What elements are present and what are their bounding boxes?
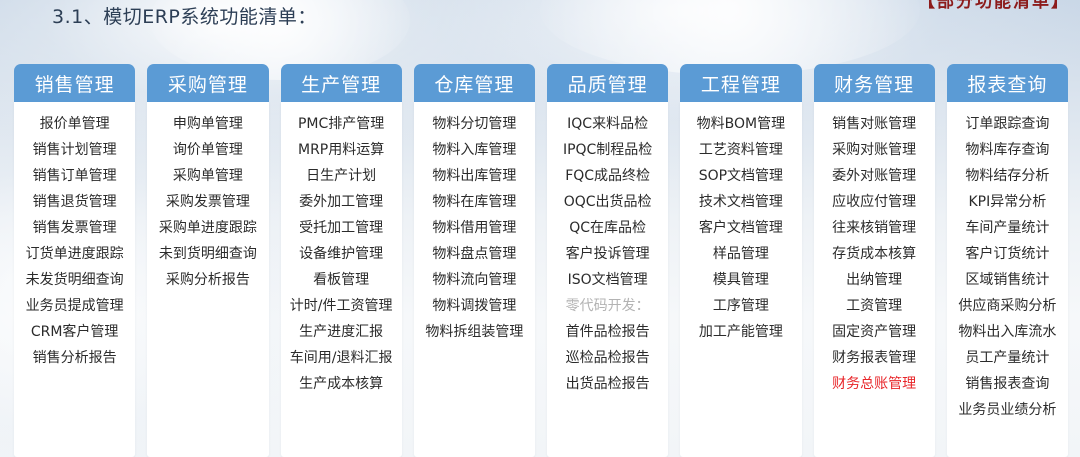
page-title: 3.1、模切ERP系统功能清单：: [52, 2, 317, 29]
list-item[interactable]: 往来核销管理: [832, 215, 916, 241]
list-item[interactable]: 业务员业绩分析: [958, 397, 1056, 423]
list-item[interactable]: 工艺资料管理: [699, 137, 783, 163]
list-item[interactable]: 询价单管理: [173, 137, 243, 163]
column-body: 报价单管理销售计划管理销售订单管理销售退货管理销售发票管理订货单进度跟踪未发货明…: [14, 102, 135, 457]
column-body: 物料BOM管理工艺资料管理SOP文档管理技术文档管理客户文档管理样品管理模具管理…: [680, 102, 801, 457]
list-item[interactable]: 车间用/退料汇报: [290, 345, 393, 371]
list-item[interactable]: 设备维护管理: [299, 241, 383, 267]
corner-note: 【部分功能清单】: [918, 0, 1070, 12]
column-header[interactable]: 报表查询: [947, 64, 1068, 102]
list-item[interactable]: 首件品检报告: [566, 319, 650, 345]
list-item[interactable]: IQC来料品检: [567, 111, 648, 137]
list-item[interactable]: 应收应付管理: [832, 189, 916, 215]
list-item[interactable]: 受托加工管理: [299, 215, 383, 241]
slide-page: 3.1、模切ERP系统功能清单： 【部分功能清单】 销售管理报价单管理销售计划管…: [0, 0, 1080, 457]
list-item[interactable]: IPQC制程品检: [563, 137, 652, 163]
module-column: 品质管理IQC来料品检IPQC制程品检FQC成品终检OQC出货品检QC在库品检客…: [547, 64, 668, 457]
list-item[interactable]: 物料库存查询: [965, 137, 1049, 163]
list-item[interactable]: SOP文档管理: [699, 163, 783, 189]
list-item[interactable]: 样品管理: [713, 241, 769, 267]
list-item[interactable]: 订单跟踪查询: [965, 111, 1049, 137]
list-item[interactable]: 区域销售统计: [965, 267, 1049, 293]
list-item[interactable]: 业务员提成管理: [26, 293, 124, 319]
column-body: 销售对账管理采购对账管理委外对账管理应收应付管理往来核销管理存货成本核算出纳管理…: [814, 102, 935, 457]
list-item[interactable]: 出纳管理: [846, 267, 902, 293]
list-item[interactable]: 客户文档管理: [699, 215, 783, 241]
list-item[interactable]: 报价单管理: [40, 111, 110, 137]
list-item[interactable]: 委外对账管理: [832, 163, 916, 189]
list-item[interactable]: 销售报表查询: [965, 371, 1049, 397]
list-item[interactable]: 未到货明细查询: [159, 241, 257, 267]
list-item[interactable]: 委外加工管理: [299, 189, 383, 215]
list-item[interactable]: 申购单管理: [173, 111, 243, 137]
column-body: 订单跟踪查询物料库存查询物料结存分析KPI异常分析车间产量统计客户订货统计区域销…: [947, 102, 1068, 457]
module-column: 工程管理物料BOM管理工艺资料管理SOP文档管理技术文档管理客户文档管理样品管理…: [680, 64, 801, 457]
list-item[interactable]: 存货成本核算: [832, 241, 916, 267]
column-body: IQC来料品检IPQC制程品检FQC成品终检OQC出货品检QC在库品检客户投诉管…: [547, 102, 668, 457]
list-item[interactable]: 供应商采购分析: [958, 293, 1056, 319]
column-header[interactable]: 生产管理: [281, 64, 402, 102]
list-item[interactable]: 日生产计划: [306, 163, 376, 189]
column-header[interactable]: 采购管理: [147, 64, 268, 102]
list-item[interactable]: 销售对账管理: [832, 111, 916, 137]
list-item[interactable]: 采购单进度跟踪: [159, 215, 257, 241]
list-item[interactable]: 客户订货统计: [965, 241, 1049, 267]
module-column: 销售管理报价单管理销售计划管理销售订单管理销售退货管理销售发票管理订货单进度跟踪…: [14, 64, 135, 457]
list-item[interactable]: 固定资产管理: [832, 319, 916, 345]
list-item[interactable]: 物料出入库流水: [958, 319, 1056, 345]
column-header[interactable]: 品质管理: [547, 64, 668, 102]
list-item[interactable]: 生产成本核算: [299, 371, 383, 397]
list-item[interactable]: 工资管理: [846, 293, 902, 319]
list-item[interactable]: 工序管理: [713, 293, 769, 319]
list-item[interactable]: 采购分析报告: [166, 267, 250, 293]
list-item[interactable]: CRM客户管理: [31, 319, 119, 345]
list-item[interactable]: PMC排产管理: [298, 111, 384, 137]
list-item[interactable]: 采购单管理: [173, 163, 243, 189]
column-body: PMC排产管理MRP用料运算日生产计划委外加工管理受托加工管理设备维护管理看板管…: [281, 102, 402, 457]
list-item[interactable]: 加工产能管理: [699, 319, 783, 345]
list-item[interactable]: 销售退货管理: [33, 189, 117, 215]
list-item[interactable]: 物料入库管理: [432, 137, 516, 163]
list-item[interactable]: 生产进度汇报: [299, 319, 383, 345]
list-item[interactable]: 物料借用管理: [432, 215, 516, 241]
module-column: 生产管理PMC排产管理MRP用料运算日生产计划委外加工管理受托加工管理设备维护管…: [281, 64, 402, 457]
list-item[interactable]: 订货单进度跟踪: [26, 241, 124, 267]
column-header[interactable]: 工程管理: [680, 64, 801, 102]
list-item[interactable]: ISO文档管理: [568, 267, 648, 293]
list-item[interactable]: MRP用料运算: [298, 137, 384, 163]
list-item[interactable]: KPI异常分析: [968, 189, 1046, 215]
list-item[interactable]: 物料分切管理: [432, 111, 516, 137]
list-item[interactable]: 客户投诉管理: [566, 241, 650, 267]
list-item[interactable]: 技术文档管理: [699, 189, 783, 215]
module-column: 仓库管理物料分切管理物料入库管理物料出库管理物料在库管理物料借用管理物料盘点管理…: [414, 64, 535, 457]
module-board: 销售管理报价单管理销售计划管理销售订单管理销售退货管理销售发票管理订货单进度跟踪…: [14, 64, 1068, 457]
list-item[interactable]: 模具管理: [713, 267, 769, 293]
module-column: 采购管理申购单管理询价单管理采购单管理采购发票管理采购单进度跟踪未到货明细查询采…: [147, 64, 268, 457]
list-item[interactable]: QC在库品检: [569, 215, 646, 241]
module-column: 报表查询订单跟踪查询物料库存查询物料结存分析KPI异常分析车间产量统计客户订货统…: [947, 64, 1068, 457]
list-item[interactable]: 物料结存分析: [965, 163, 1049, 189]
list-item[interactable]: 物料出库管理: [432, 163, 516, 189]
list-item[interactable]: 看板管理: [313, 267, 369, 293]
column-body: 物料分切管理物料入库管理物料出库管理物料在库管理物料借用管理物料盘点管理物料流向…: [414, 102, 535, 457]
list-item[interactable]: 销售发票管理: [33, 215, 117, 241]
list-item[interactable]: FQC成品终检: [565, 163, 650, 189]
list-item[interactable]: 销售订单管理: [33, 163, 117, 189]
list-item[interactable]: 未发货明细查询: [26, 267, 124, 293]
list-item[interactable]: 物料流向管理: [432, 267, 516, 293]
list-item[interactable]: 员工产量统计: [965, 345, 1049, 371]
column-header[interactable]: 财务管理: [814, 64, 935, 102]
list-item[interactable]: 财务总账管理: [832, 371, 916, 397]
list-item[interactable]: 出货品检报告: [566, 371, 650, 397]
column-body: 申购单管理询价单管理采购单管理采购发票管理采购单进度跟踪未到货明细查询采购分析报…: [147, 102, 268, 457]
list-item[interactable]: 巡检品检报告: [566, 345, 650, 371]
column-header[interactable]: 仓库管理: [414, 64, 535, 102]
list-item[interactable]: 采购对账管理: [832, 137, 916, 163]
list-item[interactable]: 物料调拨管理: [432, 293, 516, 319]
list-item[interactable]: 车间产量统计: [965, 215, 1049, 241]
list-item[interactable]: 财务报表管理: [832, 345, 916, 371]
column-header[interactable]: 销售管理: [14, 64, 135, 102]
list-section-label: 零代码开发：: [566, 293, 650, 319]
list-item[interactable]: 销售分析报告: [33, 345, 117, 371]
list-item[interactable]: OQC出货品检: [564, 189, 652, 215]
list-item[interactable]: 物料BOM管理: [697, 111, 785, 137]
module-column: 财务管理销售对账管理采购对账管理委外对账管理应收应付管理往来核销管理存货成本核算…: [814, 64, 935, 457]
list-item[interactable]: 计时/件工资管理: [290, 293, 393, 319]
list-item[interactable]: 物料在库管理: [432, 189, 516, 215]
list-item[interactable]: 物料拆组装管理: [425, 319, 523, 345]
list-item[interactable]: 销售计划管理: [33, 137, 117, 163]
list-item[interactable]: 采购发票管理: [166, 189, 250, 215]
list-item[interactable]: 物料盘点管理: [432, 241, 516, 267]
